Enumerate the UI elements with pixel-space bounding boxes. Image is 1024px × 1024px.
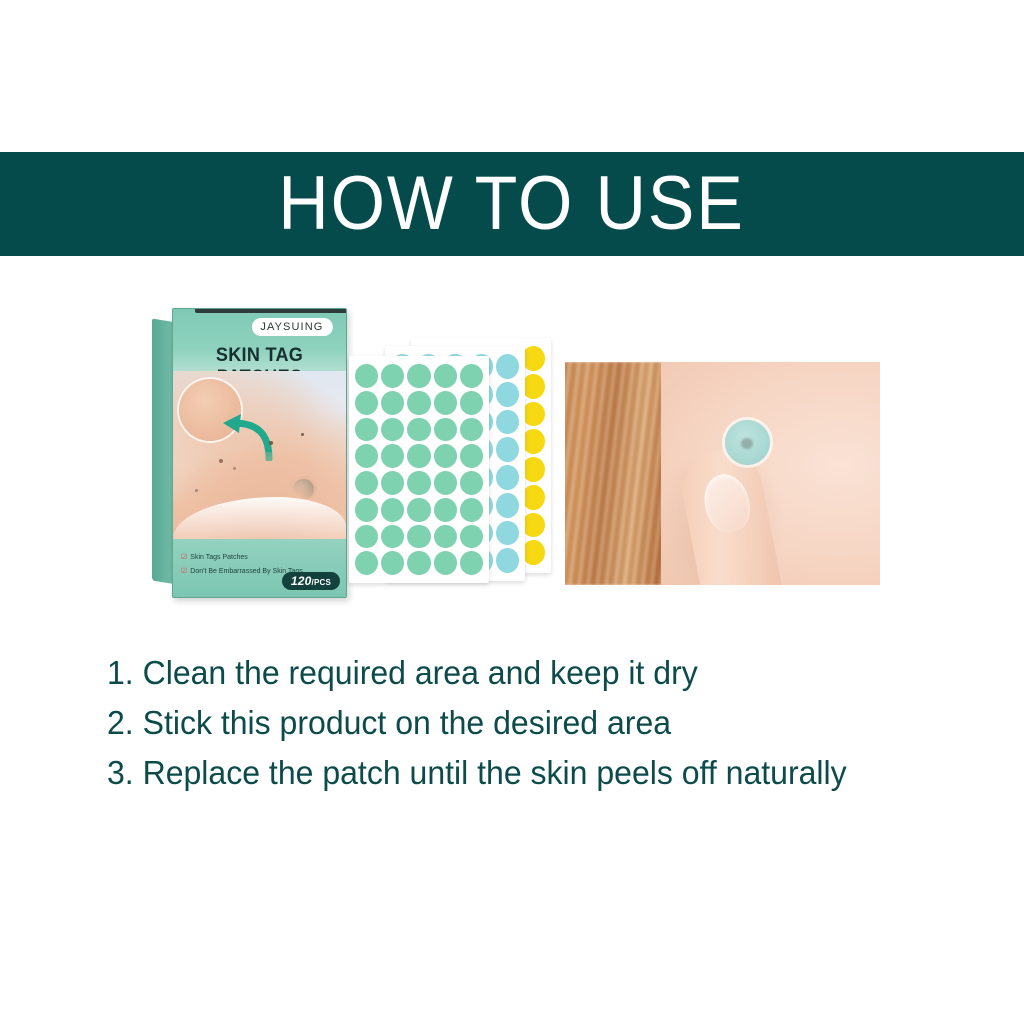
patch-dot <box>460 418 483 442</box>
patch-dot <box>522 374 545 399</box>
patch-dot <box>496 493 519 518</box>
patch-dot <box>434 364 457 388</box>
patch-dot <box>355 551 378 575</box>
patch-dot <box>460 364 483 388</box>
brand-logo: JAYSUING <box>251 318 332 336</box>
patch-dot <box>407 418 430 442</box>
instruction-step-2: 2. Stick this product on the desired are… <box>107 698 980 748</box>
patch-dot <box>407 364 430 388</box>
patch-dot <box>496 410 519 435</box>
patch-dot <box>381 525 404 549</box>
instruction-list: 1. Clean the required area and keep it d… <box>107 648 1007 798</box>
patch-dot <box>522 429 545 454</box>
freckle <box>233 467 236 470</box>
patch-dot <box>496 354 519 379</box>
instruction-step-1: 1. Clean the required area and keep it d… <box>107 648 980 698</box>
freckle <box>219 459 223 463</box>
patch-dot <box>460 498 483 522</box>
instruction-step-3: 3. Replace the patch until the skin peel… <box>107 748 980 798</box>
page-title: HOW TO USE <box>279 166 745 242</box>
patch-dot <box>460 525 483 549</box>
box-bullet-1: ☑ Skin Tags Patches <box>181 553 248 561</box>
patch-dot <box>434 551 457 575</box>
box-top-edge <box>195 308 347 313</box>
patch-dot <box>355 418 378 442</box>
patch-dot <box>381 418 404 442</box>
patch-dot <box>407 498 430 522</box>
check-icon: ☑ <box>181 553 187 561</box>
patch-dot <box>355 444 378 468</box>
patch-dot <box>407 551 430 575</box>
patch-dot <box>381 444 404 468</box>
how-to-use-banner: HOW TO USE <box>0 152 1024 256</box>
arrow-icon <box>219 411 275 461</box>
quantity-badge: 120/PCS <box>282 572 340 590</box>
box-side-panel <box>152 319 174 584</box>
patch-dot <box>496 382 519 407</box>
patch-dot <box>522 540 545 565</box>
patch-dot <box>460 391 483 415</box>
patch-dot <box>496 548 519 573</box>
media-row: JAYSUING SKIN TAG PATCHES <box>0 290 1024 600</box>
patch-dot <box>381 498 404 522</box>
patch-dot <box>496 437 519 462</box>
patch-dot <box>434 498 457 522</box>
patch-dot <box>381 391 404 415</box>
patch-dot <box>434 444 457 468</box>
patch-dot <box>434 471 457 495</box>
patch-dot <box>381 551 404 575</box>
patch-dot <box>355 364 378 388</box>
patch-dot <box>460 551 483 575</box>
green-patch-sheet <box>349 356 489 583</box>
box-front-face: JAYSUING SKIN TAG PATCHES <box>172 308 347 598</box>
skin-tag-mark <box>293 479 314 500</box>
patch-dot <box>381 364 404 388</box>
patch-dot <box>522 457 545 482</box>
patch-sheets-image <box>345 338 560 583</box>
patch-dot <box>355 525 378 549</box>
patch-dot <box>434 391 457 415</box>
freckle <box>269 441 273 445</box>
patch-dot <box>460 471 483 495</box>
patch-dot <box>434 418 457 442</box>
patch-dot <box>496 521 519 546</box>
box-bottom-band: ☑ Skin Tags Patches ☑ Don't Be Embarrass… <box>173 539 346 597</box>
patch-dot <box>522 346 545 371</box>
patch-dot <box>522 485 545 510</box>
patch-dot <box>355 498 378 522</box>
patch-dot <box>407 391 430 415</box>
patch-dot <box>496 465 519 490</box>
patch-dot <box>407 525 430 549</box>
patch-dot <box>355 391 378 415</box>
applied-patch <box>725 420 770 465</box>
patch-dot <box>407 471 430 495</box>
patch-dot <box>522 513 545 538</box>
patch-dot <box>522 402 545 427</box>
patch-dot <box>460 444 483 468</box>
patch-dot <box>355 471 378 495</box>
patch-dot <box>407 444 430 468</box>
patch-dot <box>434 525 457 549</box>
patch-dot <box>381 471 404 495</box>
application-photo <box>565 362 880 585</box>
product-box-image: JAYSUING SKIN TAG PATCHES <box>152 308 345 596</box>
freckle <box>195 489 198 492</box>
check-icon: ☑ <box>181 567 187 575</box>
freckle <box>301 433 304 436</box>
